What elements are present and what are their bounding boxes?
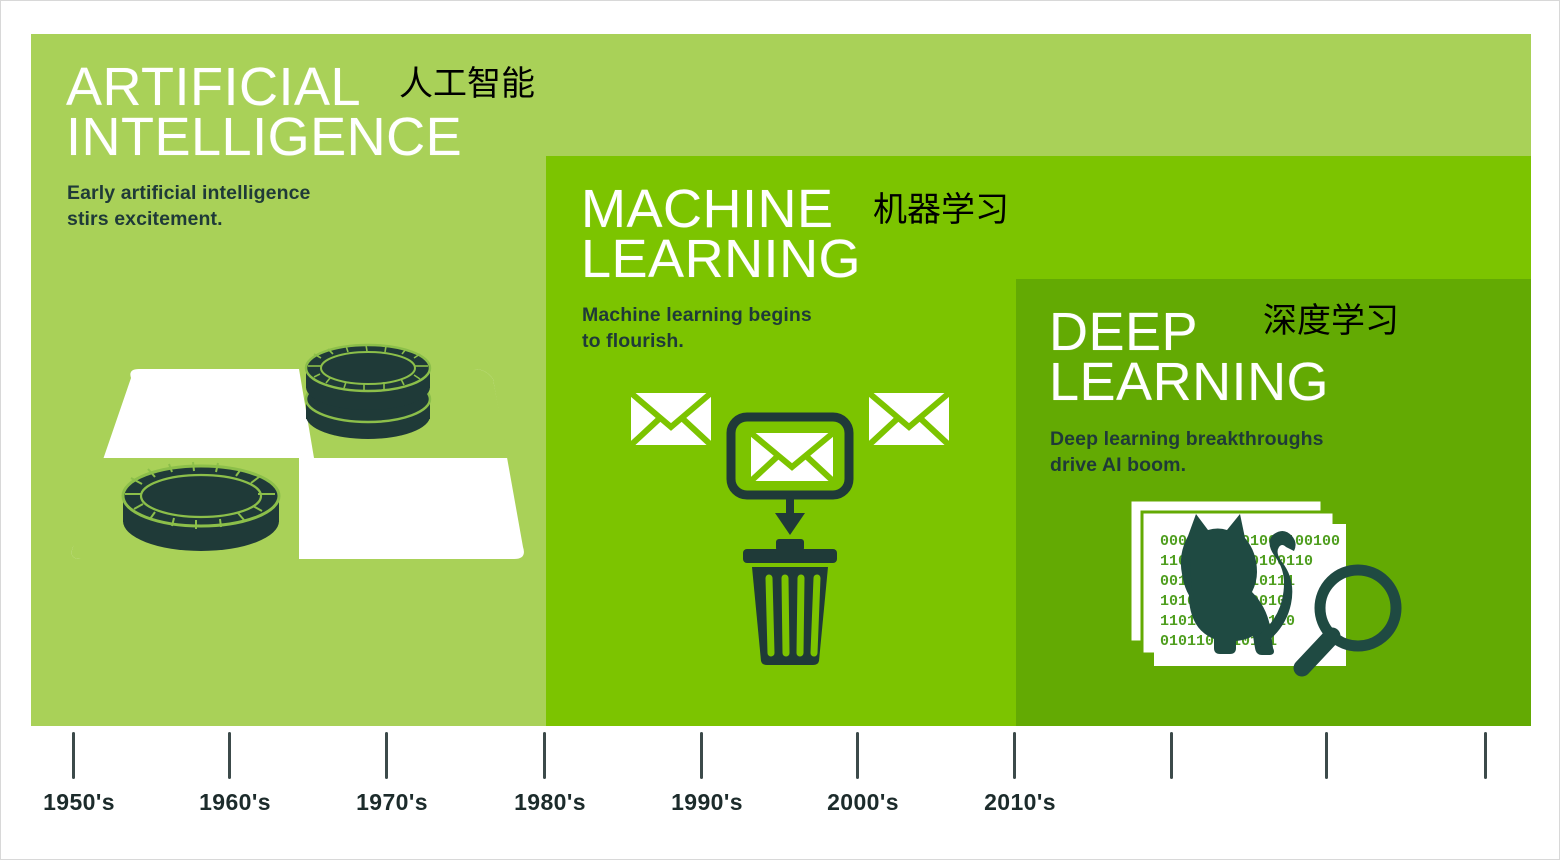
timeline-tick-stem — [385, 732, 388, 779]
timeline-decade-label: 1970's — [356, 789, 428, 816]
timeline-decade-label: 2010's — [984, 789, 1056, 816]
timeline-tick — [539, 728, 550, 779]
timeline-tick — [1009, 728, 1020, 779]
timeline-tick-stem — [228, 732, 231, 779]
timeline-decade-label: 1950's — [43, 789, 115, 816]
timeline-decade-label: 2000's — [827, 789, 899, 816]
timeline-tick-stem — [1484, 732, 1487, 779]
infographic-canvas: 00010100101001100100 11010110110100110 0… — [0, 0, 1560, 860]
timeline-decade-label: 1990's — [671, 789, 743, 816]
timeline-tick-stem — [72, 732, 75, 779]
timeline-tick — [1480, 728, 1491, 779]
timeline-tick-stem — [1325, 732, 1328, 779]
timeline-tick — [696, 728, 707, 779]
timeline-tick — [381, 728, 392, 779]
timeline-tick — [852, 728, 863, 779]
timeline-decade-label: 1980's — [514, 789, 586, 816]
timeline-tick-stem — [700, 732, 703, 779]
timeline-tick — [1321, 728, 1332, 779]
timeline-tick-stem — [1170, 732, 1173, 779]
timeline-tick-stem — [1013, 732, 1016, 779]
timeline-decade-label: 1960's — [199, 789, 271, 816]
timeline-tick — [1166, 728, 1177, 779]
timeline-tick — [68, 728, 79, 779]
timeline-axis: 1950's1960's1970's1980's1990's2000's2010… — [1, 1, 1560, 860]
timeline-tick-stem — [543, 732, 546, 779]
timeline-tick-stem — [856, 732, 859, 779]
timeline-tick — [224, 728, 235, 779]
